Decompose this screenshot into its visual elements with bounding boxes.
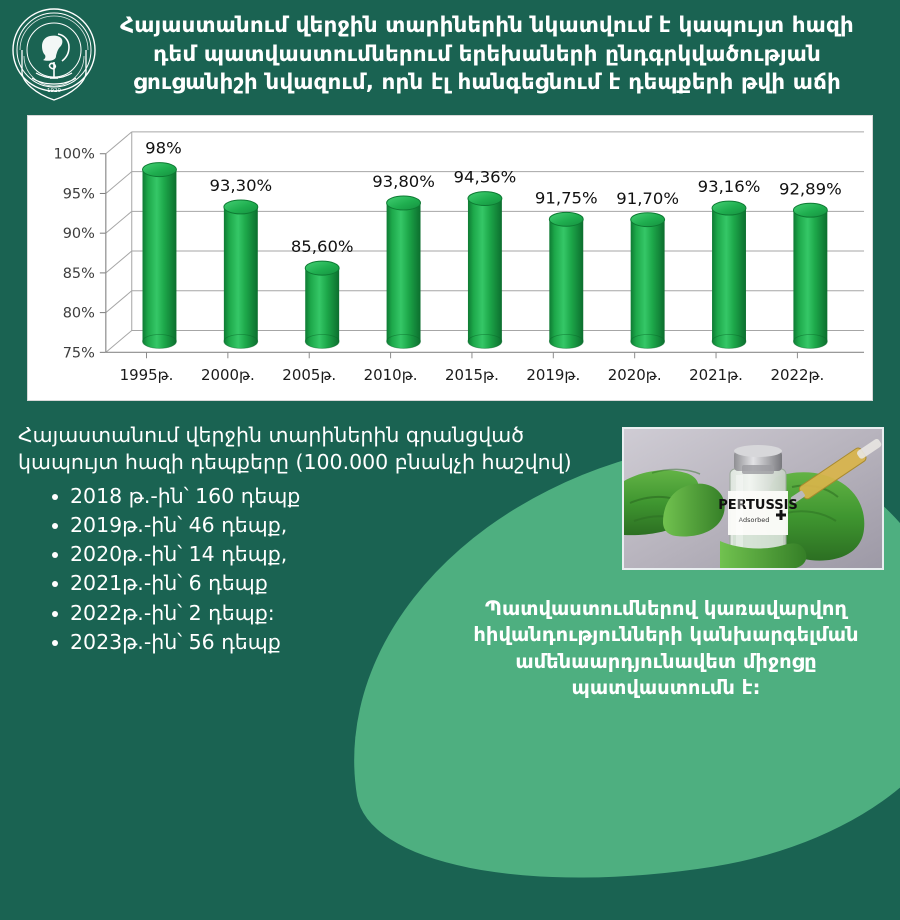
y-axis-tick-label: 80% <box>63 306 95 322</box>
y-axis-tick-label: 75% <box>63 345 95 361</box>
vial-label: PERTUSSIS <box>718 498 798 513</box>
x-axis-tick-label: 2000թ. <box>201 366 255 384</box>
x-axis-tick-label: 2005թ. <box>282 366 336 384</box>
bar-data-label: 93,16% <box>698 177 761 196</box>
bar-data-label: 98% <box>145 139 182 158</box>
x-axis-tick-label: 2015թ. <box>445 366 499 384</box>
vial-sublabel: Adsorbed <box>739 516 770 524</box>
bar-data-label: 92,89% <box>779 179 842 198</box>
x-axis-tick-label: 2021թ. <box>689 366 743 384</box>
y-axis-tick-label: 100% <box>54 147 95 163</box>
bar-chart: 75%80%85%90%95%100%98%1995թ.93,30%2000թ.… <box>28 116 872 400</box>
seal-year: 1920 <box>47 88 61 94</box>
bar-data-label: 93,80% <box>372 172 435 191</box>
bar-data-label: 91,75% <box>535 188 598 207</box>
bar-data-label: 94,36% <box>454 168 517 187</box>
y-axis-tick-label: 95% <box>63 186 95 202</box>
y-axis-tick-label: 90% <box>63 226 95 242</box>
x-axis-tick-label: 1995թ. <box>120 366 174 384</box>
bar-data-label: 91,70% <box>616 189 679 208</box>
list-item: 2020թ.-ին՝ 14 դեպք, <box>52 540 618 569</box>
list-item: 2021թ.-ին՝ 6 դեպք <box>52 569 618 598</box>
bar-2020 <box>631 213 665 349</box>
bar-data-label: 93,30% <box>209 176 272 195</box>
list-item: 2018 թ.-ին՝ 160 դեպք <box>52 482 618 511</box>
bar-2005 <box>305 261 339 348</box>
bar-2010 <box>387 196 421 348</box>
bar-2022 <box>793 203 827 348</box>
bar-2021 <box>712 201 746 348</box>
bar-1995 <box>143 163 177 349</box>
x-axis-tick-label: 2019թ. <box>526 366 580 384</box>
header: 1920 Հայաստանում վերջին տարիներին նկատվո… <box>0 0 900 106</box>
bar-data-label: 85,60% <box>291 237 354 256</box>
list-item: 2019թ.-ին՝ 46 դեպք, <box>52 511 618 540</box>
bar-2019 <box>549 212 583 348</box>
footer-caption: Պատվաստումներով կառավարվող հիվանդություն… <box>448 596 884 701</box>
bar-2000 <box>224 200 258 348</box>
x-axis-tick-label: 2010թ. <box>364 366 418 384</box>
cases-lead-text: Հայաստանում վերջին տարիներին գրանցված կա… <box>18 422 618 476</box>
x-axis-tick-label: 2022թ. <box>770 366 824 384</box>
page-title: Հայաստանում վերջին տարիներին նկատվում է … <box>102 6 886 98</box>
bar-2015 <box>468 192 502 349</box>
x-axis-tick-label: 2020թ. <box>608 366 662 384</box>
chart-panel: 75%80%85%90%95%100%98%1995թ.93,30%2000թ.… <box>27 115 873 401</box>
y-axis-tick-label: 85% <box>63 266 95 282</box>
vaccine-photo: PERTUSSIS Adsorbed <box>622 427 884 570</box>
university-seal-logo: 1920 <box>6 6 102 102</box>
